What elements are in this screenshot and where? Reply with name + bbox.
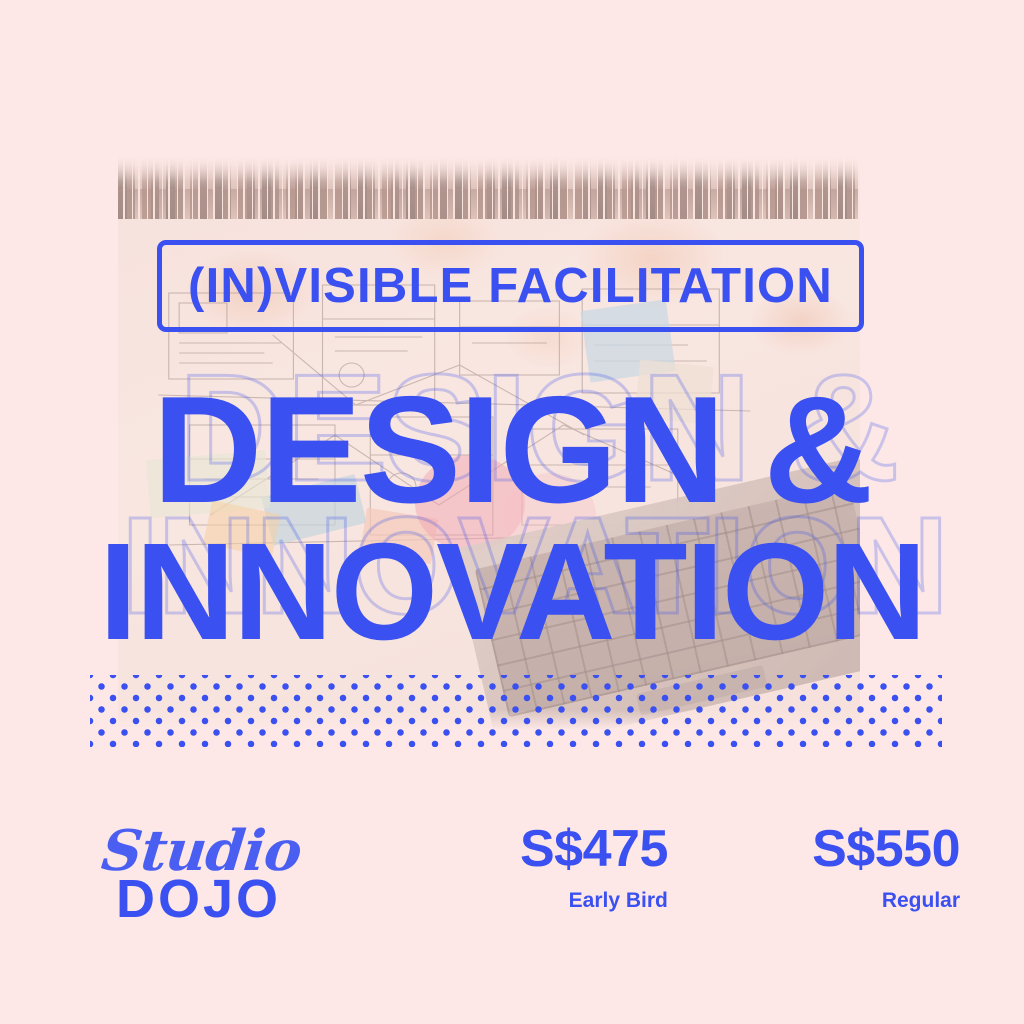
headline-line-2: INNOVATION INNOVATION [0,512,1024,672]
headline-line-1: DESIGN & DESIGN & [0,370,1024,530]
studio-dojo-logo: Studio DOJO [98,818,328,928]
price-block-early-bird: S$475 Early Bird [520,822,668,913]
price-label: Early Bird [520,889,668,913]
price-amount: S$475 [520,822,668,877]
headline-text-1: DESIGN & [0,370,1024,530]
headline-text-2: INNOVATION [0,512,1024,672]
workshop-title: (IN)VISIBLE FACILITATION [188,262,833,311]
headline-group: DESIGN & DESIGN & INNOVATION INNOVATION [0,370,1024,672]
logo-script-text: Studio [99,818,305,884]
price-block-regular: S$550 Regular [812,822,960,913]
torn-brush-edge [118,155,860,219]
title-banner-box: (IN)VISIBLE FACILITATION [157,240,864,332]
pricing-group: S$475 Early Bird S$550 Regular [520,822,960,913]
poster-canvas: (IN)VISIBLE FACILITATION DESIGN & DESIGN… [0,0,1024,1024]
price-amount: S$550 [812,822,960,877]
price-label: Regular [812,889,960,913]
polka-dot-pattern [90,675,942,747]
